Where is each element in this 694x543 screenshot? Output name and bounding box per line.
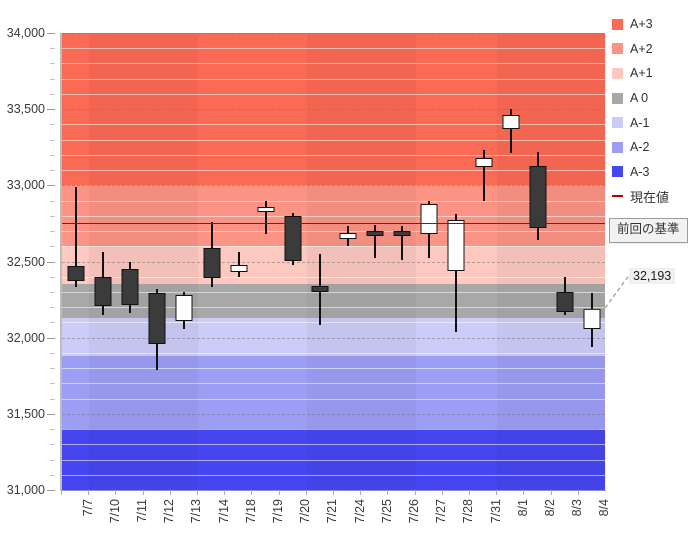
x-axis-label: 7/18 [244, 499, 258, 523]
candle-body [393, 231, 410, 236]
x-axis-label: 7/21 [325, 499, 339, 523]
candlestick[interactable] [62, 33, 89, 490]
candlestick[interactable] [470, 33, 497, 490]
y-tick-minor [50, 79, 55, 80]
x-tick [279, 490, 280, 495]
candle-body [421, 204, 438, 234]
x-axis-label: 7/31 [489, 499, 503, 523]
legend-swatch-icon [612, 117, 623, 128]
legend-swatch-icon [612, 43, 623, 54]
candle-body [529, 166, 546, 228]
x-axis-label: 7/20 [298, 499, 312, 523]
y-axis-label: 32,500 [7, 255, 45, 269]
candle-wick [265, 201, 267, 235]
y-tick-minor [50, 353, 55, 354]
y-tick-minor [50, 292, 55, 293]
x-axis-label: 8/2 [543, 499, 557, 516]
x-axis-label: 7/26 [407, 499, 421, 523]
candlestick[interactable] [307, 33, 334, 490]
candle-body [502, 115, 519, 129]
candlestick[interactable] [225, 33, 252, 490]
x-axis-label: 7/13 [189, 499, 203, 523]
y-axis: 31,00031,50032,00032,50033,00033,50034,0… [0, 0, 61, 523]
legend-item-a-3[interactable]: A-3 [612, 160, 694, 185]
y-tick-major [47, 262, 55, 263]
y-axis-label: 31,500 [7, 407, 45, 421]
candlestick[interactable] [579, 33, 605, 490]
legend-item-label: A+2 [630, 42, 653, 56]
legend-item-a+1[interactable]: A+1 [612, 61, 694, 86]
current-value-line [62, 223, 605, 224]
x-axis-label: 8/4 [597, 499, 611, 516]
x-tick [61, 490, 62, 495]
x-tick [88, 490, 89, 495]
x-tick [306, 490, 307, 495]
candlestick[interactable] [89, 33, 116, 490]
x-tick [333, 490, 334, 495]
legend-line-icon [612, 195, 623, 197]
y-tick-minor [50, 277, 55, 278]
candle-body [257, 207, 274, 212]
candlestick[interactable] [116, 33, 143, 490]
x-tick [551, 490, 552, 495]
y-tick-minor [50, 216, 55, 217]
y-axis-label: 34,000 [7, 26, 45, 40]
y-axis-label: 33,000 [7, 178, 45, 192]
x-axis-label: 7/11 [135, 499, 149, 522]
legend-item-a-1[interactable]: A-1 [612, 110, 694, 135]
x-axis-label: 7/24 [353, 499, 367, 523]
candlestick[interactable] [416, 33, 443, 490]
y-tick-minor [50, 48, 55, 49]
candle-body [94, 277, 111, 306]
y-axis-label: 33,500 [7, 102, 45, 116]
legend-item-label: A 0 [630, 91, 648, 105]
x-axis-label: 8/1 [516, 499, 530, 516]
x-tick [415, 490, 416, 495]
y-tick-minor [50, 124, 55, 125]
legend-item-label: A-1 [630, 116, 649, 130]
candle-body [475, 158, 492, 167]
legend-item-label: A+1 [630, 66, 653, 80]
y-tick-minor [50, 170, 55, 171]
y-tick-minor [50, 94, 55, 95]
x-axis-label: 7/12 [162, 499, 176, 523]
x-tick [197, 490, 198, 495]
legend-item-label: A-3 [630, 165, 649, 179]
x-axis: 7/77/107/117/127/137/147/187/197/207/217… [61, 490, 606, 543]
candle-body [67, 266, 84, 281]
candlestick[interactable] [361, 33, 388, 490]
y-tick-minor [50, 475, 55, 476]
y-tick-major [47, 338, 55, 339]
candlestick[interactable] [443, 33, 470, 490]
candlestick[interactable] [171, 33, 198, 490]
candlestick[interactable] [497, 33, 524, 490]
y-tick-minor [50, 140, 55, 141]
x-tick [469, 490, 470, 495]
x-tick [578, 490, 579, 495]
y-tick-minor [50, 231, 55, 232]
legend-item-label: A+3 [630, 17, 653, 31]
y-tick-minor [50, 155, 55, 156]
x-tick [387, 490, 388, 495]
x-tick [115, 490, 116, 495]
y-tick-minor [50, 444, 55, 445]
candlestick[interactable] [252, 33, 279, 490]
y-tick-minor [50, 383, 55, 384]
x-tick [496, 490, 497, 495]
y-tick-minor [50, 399, 55, 400]
candlestick[interactable] [198, 33, 225, 490]
x-tick [442, 490, 443, 495]
y-tick-major [47, 185, 55, 186]
previous-standard-button[interactable]: 前回の基準 [609, 218, 688, 243]
legend-item-a0[interactable]: A 0 [612, 86, 694, 111]
candle-body [203, 248, 220, 278]
x-axis-label: 7/10 [108, 499, 122, 523]
legend-item-a+2[interactable]: A+2 [612, 37, 694, 62]
y-tick-minor [50, 246, 55, 247]
candlestick[interactable] [552, 33, 579, 490]
x-tick [170, 490, 171, 495]
x-axis-label: 7/14 [217, 499, 231, 523]
x-tick [224, 490, 225, 495]
y-tick-major [47, 33, 55, 34]
legend-swatch-icon [612, 142, 623, 153]
legend: A+3A+2A+1A 0A-1A-2A-3現在値 [612, 12, 694, 209]
y-tick-major [47, 414, 55, 415]
legend-item-label: A-2 [630, 140, 649, 154]
plot-area [61, 33, 605, 490]
y-tick-major [47, 490, 55, 491]
candle-body [557, 292, 574, 312]
candlestick[interactable] [280, 33, 307, 490]
y-axis-label: 31,000 [7, 483, 45, 497]
y-tick-minor [50, 322, 55, 323]
x-tick [360, 490, 361, 495]
x-tick [523, 490, 524, 495]
legend-swatch-icon [612, 93, 623, 104]
candle-body [121, 269, 138, 305]
candle-wick [374, 225, 376, 259]
y-tick-minor [50, 460, 55, 461]
y-tick-major [47, 109, 55, 110]
candle-body [584, 309, 601, 329]
x-axis-label: 7/7 [81, 499, 95, 516]
candle-body [230, 265, 247, 273]
y-axis-label: 32,000 [7, 331, 45, 345]
legend-item-a+3[interactable]: A+3 [612, 12, 694, 37]
y-tick-minor [50, 368, 55, 369]
x-axis-label: 7/19 [271, 499, 285, 523]
candlestick[interactable] [524, 33, 551, 490]
candle-body [339, 233, 356, 239]
legend-swatch-icon [612, 166, 623, 177]
candlestick[interactable] [144, 33, 171, 490]
x-axis-label: 7/25 [380, 499, 394, 523]
x-axis-label: 7/28 [461, 499, 475, 523]
legend-swatch-icon [612, 19, 623, 30]
candle-body [448, 220, 465, 270]
x-axis-label: 8/3 [570, 499, 584, 516]
candlestick[interactable] [334, 33, 361, 490]
y-tick-minor [50, 201, 55, 202]
candle-body [149, 293, 166, 343]
candle-body [312, 286, 329, 292]
legend-swatch-icon [612, 68, 623, 79]
chart-root: 31,00031,50032,00032,50033,00033,50034,0… [0, 0, 694, 543]
candle-body [176, 295, 193, 321]
legend-current-value-label: 現在値 [630, 187, 669, 206]
y-tick-minor [50, 429, 55, 430]
candlestick[interactable] [388, 33, 415, 490]
legend-item-current-value[interactable]: 現在値 [612, 184, 694, 209]
candle-body [366, 231, 383, 236]
x-tick [251, 490, 252, 495]
x-axis-label: 7/27 [434, 499, 448, 523]
y-tick-minor [50, 307, 55, 308]
current-value-callout: 32,193 [629, 268, 675, 284]
y-tick-minor [50, 63, 55, 64]
x-tick [143, 490, 144, 495]
legend-item-a-2[interactable]: A-2 [612, 135, 694, 160]
